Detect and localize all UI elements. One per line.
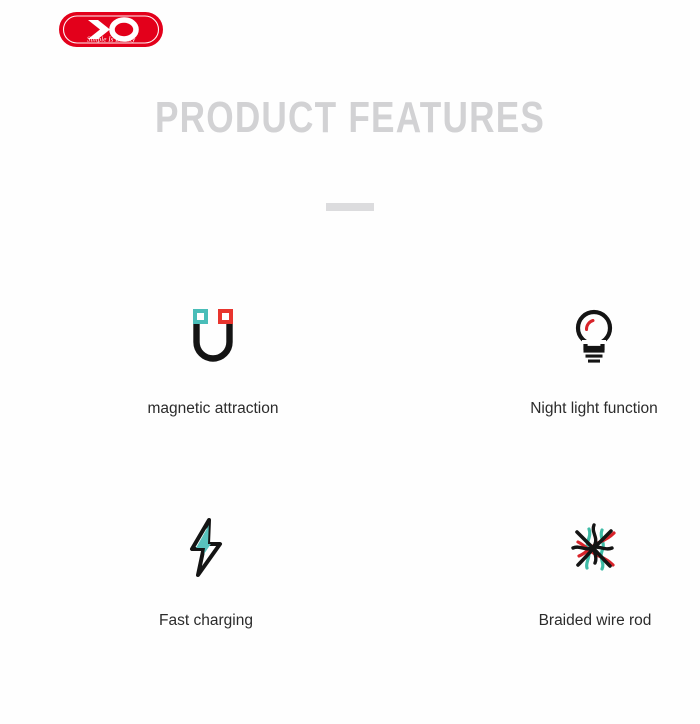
feature-label: Fast charging (159, 612, 253, 630)
xo-logo: Simple Is Beauty (58, 11, 164, 48)
lightning-bolt-icon (185, 512, 227, 584)
magnet-icon (187, 300, 239, 372)
feature-item-night-light: Night light function (350, 300, 700, 512)
feature-label: magnetic attraction (148, 400, 279, 418)
magnet-body (197, 324, 230, 359)
bulb-base-line (586, 355, 603, 358)
braid-strand-dark (573, 547, 612, 549)
bulb-base-line (588, 360, 600, 363)
light-bulb-icon (571, 300, 617, 372)
features-grid: magnetic attraction Night light function (0, 300, 700, 724)
braid-strand-dark (593, 525, 596, 563)
feature-label: Night light function (530, 400, 658, 418)
feature-item-magnetic-attraction: magnetic attraction (0, 300, 350, 512)
bulb-base-line (584, 350, 605, 353)
feature-item-fast-charging: Fast charging (0, 512, 350, 724)
xo-logo-graphic: Simple Is Beauty (58, 11, 164, 48)
bulb-highlight (586, 321, 593, 330)
bulb-globe (578, 312, 610, 344)
page-title: PRODUCT FEATURES (70, 92, 630, 144)
feature-label: Braided wire rod (539, 612, 652, 630)
braided-wire-icon (567, 512, 623, 584)
feature-item-braided-wire: Braided wire rod (350, 512, 700, 724)
title-divider (326, 203, 374, 211)
logo-tagline: Simple Is Beauty (87, 36, 136, 44)
